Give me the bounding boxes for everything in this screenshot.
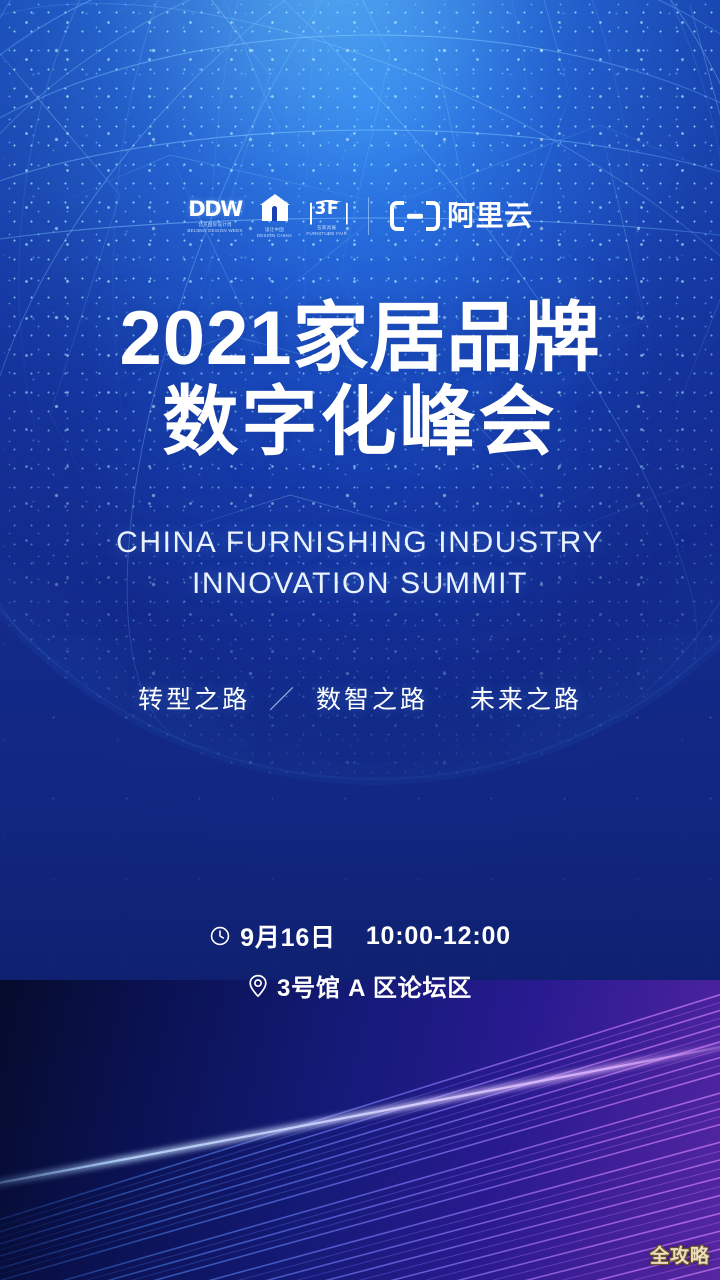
event-date: 9月16日 (240, 918, 336, 954)
ddw-logo: DDW 北京国际设计周BEIJING DESIGN WEEK (187, 199, 242, 235)
tagline-item-3: 未来之路 (470, 686, 582, 714)
three-f-logo-subtext: 在家具展FURNITURE FAIR (306, 225, 347, 237)
title-line-1: 2021家居品牌 (0, 300, 720, 378)
event-datetime-row: 9月16日 10:00-12:00 (0, 918, 720, 954)
watermark: 全攻略 (650, 1241, 710, 1268)
three-f-badge: 3F (310, 196, 344, 223)
subtitle-line-1: CHINA FURNISHING INDUSTRY (0, 522, 720, 563)
poster-title: 2021家居品牌 数字化峰会 (0, 300, 720, 461)
alibaba-cloud-logo: 阿里云 (390, 201, 533, 231)
poster-tagline: 转型之路 ／ 数智之路 未来之路 (0, 680, 720, 716)
alibaba-cloud-bracket-icon (390, 201, 440, 231)
event-details: 9月16日 10:00-12:00 3号馆 A 区论坛区 (0, 918, 720, 1017)
location-pin-icon (248, 974, 268, 998)
clock-icon (209, 925, 231, 947)
alibaba-cloud-wordmark: 阿里云 (447, 202, 533, 230)
sponsor-logo-row: DDW 北京国际设计周BEIJING DESIGN WEEK 设计中国DESIG… (0, 194, 720, 239)
poster-canvas: DDW 北京国际设计周BEIJING DESIGN WEEK 设计中国DESIG… (0, 0, 720, 1280)
title-line-2: 数字化峰会 (0, 384, 720, 462)
ddw-logo-subtext: 北京国际设计周BEIJING DESIGN WEEK (187, 222, 242, 234)
ray-lines-svg (0, 980, 720, 1280)
tagline-separator-1: ／ (269, 686, 297, 714)
poster-subtitle: CHINA FURNISHING INDUSTRY INNOVATION SUM… (0, 522, 720, 605)
design-china-logo-subtext: 设计中国DESIGN CHINA (257, 227, 293, 239)
tagline-item-1: 转型之路 (138, 686, 250, 714)
home-icon (260, 194, 290, 224)
subtitle-line-2: INNOVATION SUMMIT (0, 563, 720, 604)
logo-divider (368, 197, 369, 235)
three-f-logo: 3F 在家具展FURNITURE FAIR (306, 196, 347, 238)
ambient-starfield (0, 0, 720, 1280)
event-venue: 3号馆 A 区论坛区 (277, 968, 472, 1003)
design-china-logo: 设计中国DESIGN CHINA (257, 194, 293, 239)
tagline-item-2: 数智之路 (316, 686, 428, 714)
ddw-wordmark: DDW (188, 199, 242, 220)
event-venue-row: 3号馆 A 区论坛区 (0, 968, 720, 1003)
event-time: 10:00-12:00 (366, 922, 511, 951)
three-f-wordmark: 3F (314, 201, 338, 218)
bottom-light-rays (0, 980, 720, 1280)
